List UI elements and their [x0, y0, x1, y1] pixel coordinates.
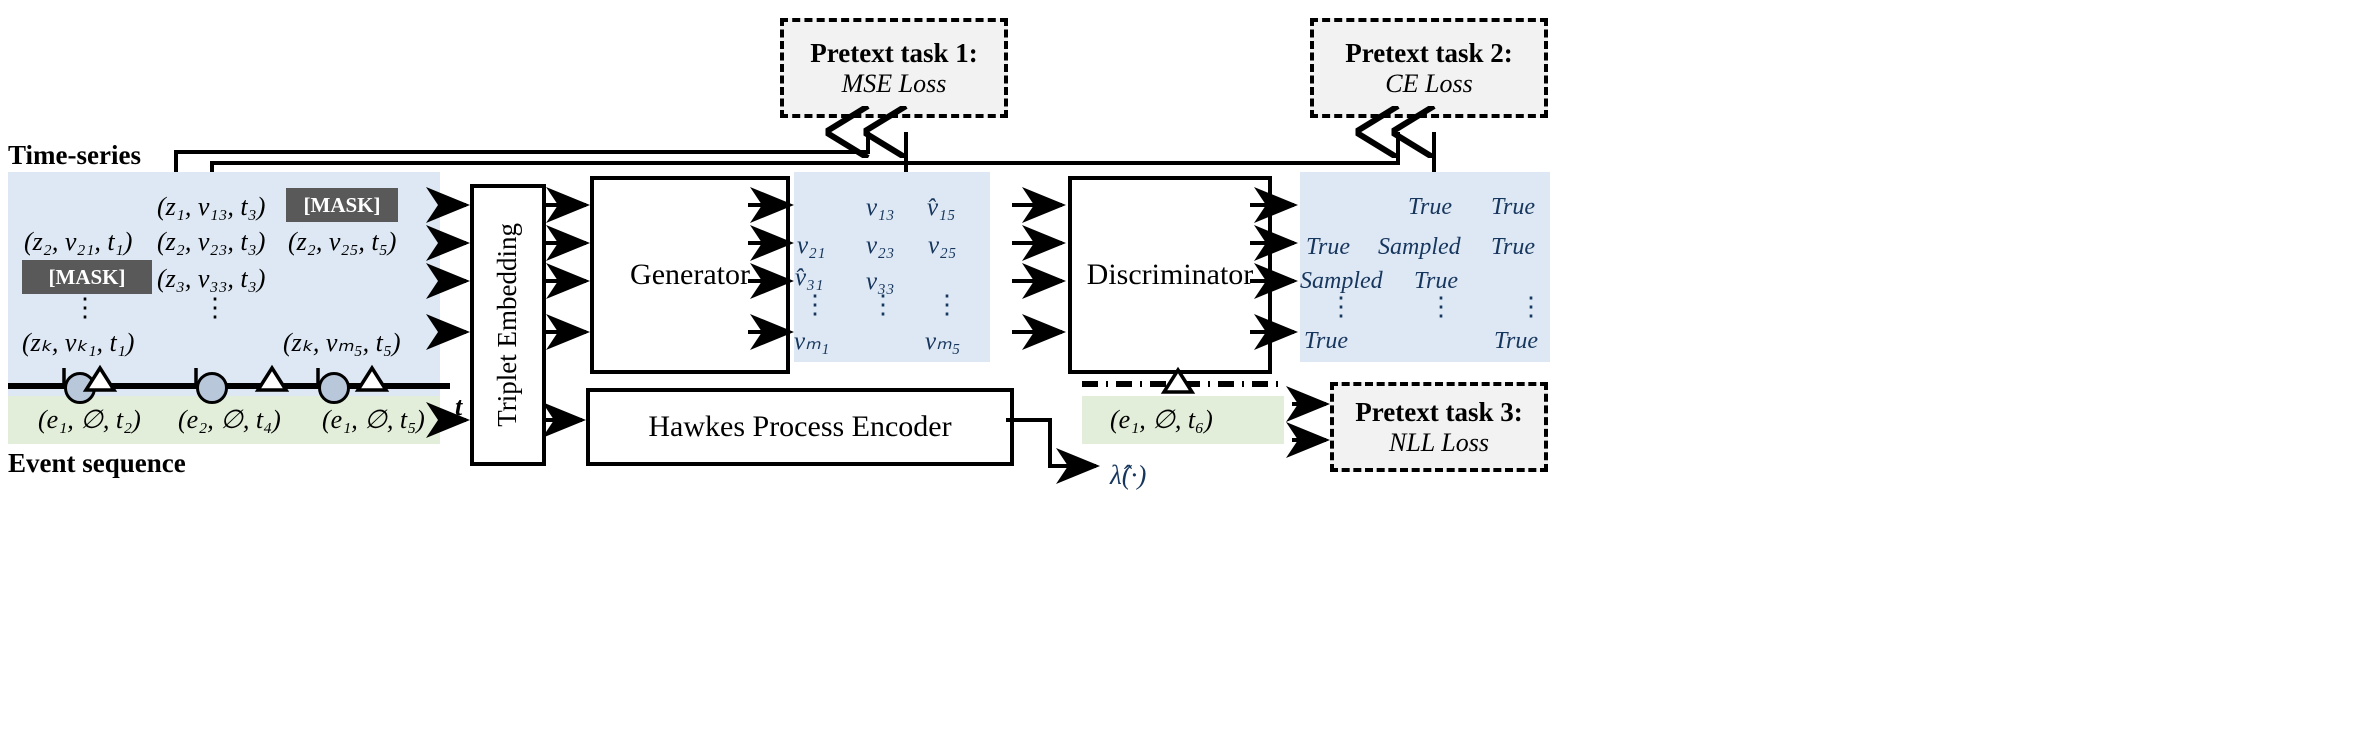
gen-out-cell: v̂₁₅: [927, 194, 955, 222]
pretext-task-3-loss: NLL Loss: [1389, 428, 1489, 458]
timeline-circle-marker: [64, 372, 96, 404]
disc-out-cell: True: [1408, 194, 1452, 221]
event-cell: (e₂, ∅, t₄): [178, 405, 281, 435]
gen-out-ellipsis: ⋮: [800, 300, 830, 310]
triplet-embedding-block[interactable]: Triplet Embedding: [470, 184, 546, 466]
pretext-task-3-box: Pretext task 3: NLL Loss: [1330, 382, 1548, 472]
gen-out-ellipsis: ⋮: [868, 300, 898, 310]
ts-cell: (z₂, v₂₅, t₅): [288, 227, 396, 257]
generator-label: Generator: [630, 258, 750, 292]
gen-out-cell: v₁₃: [866, 194, 894, 222]
hawkes-encoder-label: Hawkes Process Encoder: [648, 410, 951, 444]
disc-out-cell: True: [1491, 234, 1535, 261]
generator-block[interactable]: Generator: [590, 176, 790, 374]
gen-out-cell: v̂₃₁: [795, 264, 823, 292]
ts-cell: (z₂, v₂₁, t₁): [24, 227, 132, 257]
ts-cell: (zₖ, vₖ₁, t₁): [22, 328, 134, 358]
pretext-task-2-box: Pretext task 2: CE Loss: [1310, 18, 1548, 118]
timeline-circle-marker: [318, 372, 350, 404]
disc-out-cell: True: [1494, 328, 1538, 355]
gen-out-cell: vₘ₅: [925, 326, 960, 356]
discriminator-block[interactable]: Discriminator: [1068, 176, 1272, 374]
disc-out-ellipsis: ⋮: [1516, 302, 1546, 312]
event-sequence-section-label: Event sequence: [8, 448, 186, 479]
mask-token-badge: [MASK]: [286, 188, 398, 222]
gen-out-cell: v₂₅: [928, 232, 956, 260]
pretext-task-1-loss: MSE Loss: [842, 69, 947, 99]
disc-out-cell: True: [1304, 328, 1348, 355]
ts-cell: (z₁, v₁₃, t₃): [157, 192, 265, 222]
pretext-task-2-title: Pretext task 2:: [1345, 38, 1512, 69]
ts-cell: (z₃, v₃₃, t₃): [157, 264, 265, 294]
disc-out-cell: True: [1414, 268, 1458, 295]
triplet-embedding-label: Triplet Embedding: [493, 223, 523, 427]
mask-token-badge: [MASK]: [22, 260, 152, 294]
disc-out-ellipsis: ⋮: [1426, 302, 1456, 312]
timeseries-section-label: Time-series: [8, 140, 141, 171]
intensity-function-label: λ̂(·): [1110, 460, 1146, 491]
disc-out-cell: True: [1491, 194, 1535, 221]
ts-ellipsis: ⋮: [70, 303, 100, 313]
ts-cell: (zₖ, vₘ₅, t₅): [283, 328, 401, 358]
pretext-task-1-title: Pretext task 1:: [810, 38, 977, 69]
time-axis-label: t: [455, 392, 462, 422]
hawkes-process-encoder-block[interactable]: Hawkes Process Encoder: [586, 388, 1014, 466]
ts-ellipsis: ⋮: [200, 303, 230, 313]
gen-out-cell: vₘ₁: [794, 326, 829, 356]
pretext-task-1-box: Pretext task 1: MSE Loss: [780, 18, 1008, 118]
disc-out-cell: True: [1306, 234, 1350, 261]
gen-out-cell: v₂₃: [866, 232, 894, 260]
gen-out-ellipsis: ⋮: [932, 300, 962, 310]
timeline-circle-marker: [196, 372, 228, 404]
event-cell: (e₁, ∅, t₂): [38, 405, 141, 435]
disc-out-cell: Sampled: [1378, 234, 1461, 261]
pretext-task-2-loss: CE Loss: [1385, 69, 1472, 99]
disc-out-ellipsis: ⋮: [1326, 302, 1356, 312]
discriminator-label: Discriminator: [1087, 258, 1254, 292]
ts-cell: (z₂, v₂₃, t₃): [157, 227, 265, 257]
disc-out-cell: Sampled: [1300, 268, 1383, 295]
event-cell: (e₁, ∅, t₅): [322, 405, 425, 435]
pretext-task-3-title: Pretext task 3:: [1355, 397, 1522, 428]
predicted-event-cell: (e₁, ∅, t₆): [1110, 405, 1213, 435]
gen-out-cell: v₂₁: [797, 232, 825, 260]
